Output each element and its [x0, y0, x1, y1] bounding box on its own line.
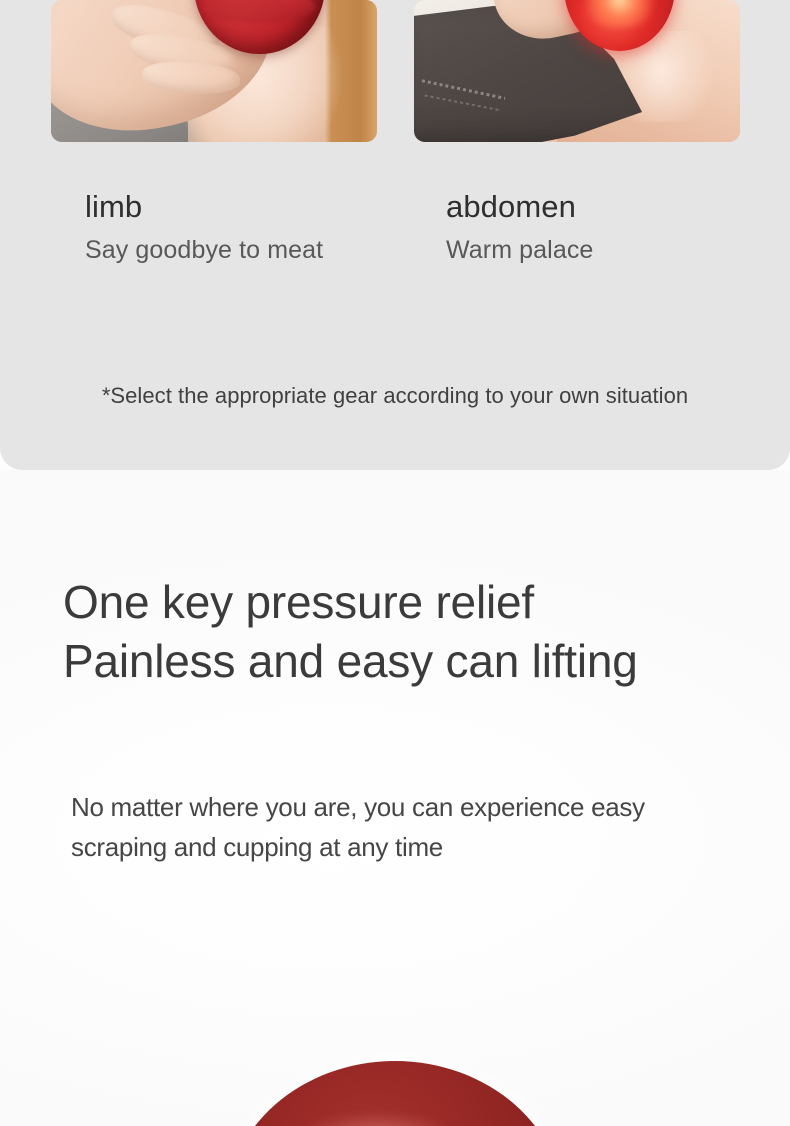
photo-limb-cupping: [51, 0, 377, 142]
photo-abdomen-cupping: [414, 0, 740, 142]
usage-panel: limb Say goodbye to meat abdomen Warm pa…: [0, 0, 790, 470]
usage-card-subtitle: Warm palace: [446, 236, 593, 264]
usage-thumbnail-row: [51, 0, 740, 142]
usage-card-limb-image[interactable]: [51, 0, 377, 142]
feature-headline: One key pressure relief Painless and eas…: [63, 573, 763, 691]
gear-selection-note: *Select the appropriate gear according t…: [0, 383, 790, 409]
usage-card-subtitle: Say goodbye to meat: [85, 236, 323, 264]
feature-body-line-1: No matter where you are, you can experie…: [71, 787, 731, 827]
usage-card-limb-caption: limb Say goodbye to meat: [85, 190, 323, 264]
usage-caption-row: limb Say goodbye to meat abdomen Warm pa…: [0, 190, 790, 300]
product-detail-page: limb Say goodbye to meat abdomen Warm pa…: [0, 0, 790, 1126]
feature-headline-line-1: One key pressure relief: [63, 573, 763, 632]
usage-card-title: limb: [85, 190, 323, 224]
product-hero-image: [0, 1006, 790, 1126]
usage-card-title: abdomen: [446, 190, 593, 224]
feature-body-copy: No matter where you are, you can experie…: [71, 787, 731, 867]
usage-card-abdomen-image[interactable]: [414, 0, 740, 142]
feature-section: One key pressure relief Painless and eas…: [0, 470, 790, 1126]
usage-card-abdomen-caption: abdomen Warm palace: [446, 190, 593, 264]
feature-headline-line-2: Painless and easy can lifting: [63, 632, 763, 691]
feature-body-line-2: scraping and cupping at any time: [71, 827, 731, 867]
